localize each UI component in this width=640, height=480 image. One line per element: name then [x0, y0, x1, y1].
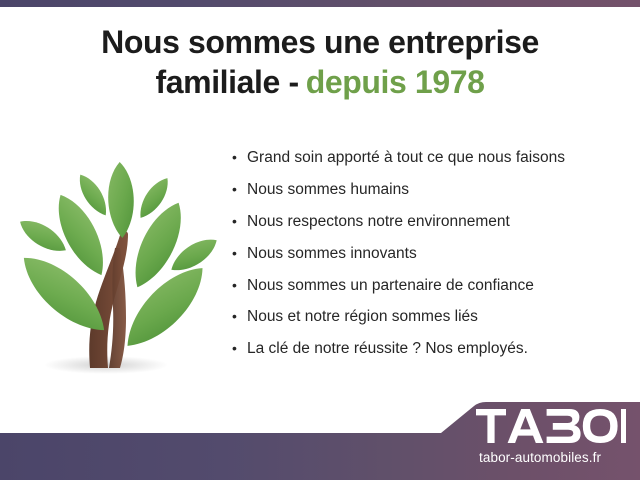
logo-wordmark — [476, 409, 626, 445]
bullet-icon: • — [232, 245, 247, 263]
list-item: • Nous sommes innovants — [232, 244, 632, 263]
list-item-label: Nous sommes humains — [247, 180, 632, 199]
bullet-icon: • — [232, 308, 247, 326]
bullet-icon: • — [232, 181, 247, 199]
bullet-icon: • — [232, 149, 247, 167]
list-item-label: La clé de notre réussite ? Nos employés. — [247, 339, 632, 358]
bullet-icon: • — [232, 340, 247, 358]
bullet-icon: • — [232, 213, 247, 231]
list-item: • Grand soin apporté à tout ce que nous … — [232, 148, 632, 167]
list-item: • La clé de notre réussite ? Nos employé… — [232, 339, 632, 358]
bullet-icon: • — [232, 277, 247, 295]
value-list: • Grand soin apporté à tout ce que nous … — [232, 148, 632, 371]
title-line-1: Nous sommes une entreprise — [0, 24, 640, 62]
list-item-label: Grand soin apporté à tout ce que nous fa… — [247, 148, 632, 167]
list-item-label: Nous respectons notre environnement — [247, 212, 632, 231]
list-item: • Nous et notre région sommes liés — [232, 307, 632, 326]
tree-illustration — [8, 152, 220, 392]
list-item-label: Nous et notre région sommes liés — [247, 307, 632, 326]
leaf — [107, 162, 135, 239]
list-item: • Nous sommes humains — [232, 180, 632, 199]
title-line-2: familiale -depuis 1978 — [0, 64, 640, 102]
list-item: • Nous sommes un partenaire de confiance — [232, 276, 632, 295]
list-item-label: Nous sommes innovants — [247, 244, 632, 263]
top-accent-bar — [0, 0, 640, 7]
logo-tagline: tabor-automobiles.fr — [479, 450, 601, 465]
slide-canvas: Nous sommes une entreprise familiale -de… — [0, 0, 640, 480]
title-line-2-plain: familiale - — [155, 64, 298, 100]
list-item-label: Nous sommes un partenaire de confiance — [247, 276, 632, 295]
leaf — [115, 256, 216, 359]
title-line-2-accent: depuis 1978 — [306, 64, 485, 100]
brand-logo[interactable]: tabor-automobiles.fr — [476, 409, 640, 475]
list-item: • Nous respectons notre environnement — [232, 212, 632, 231]
page-title: Nous sommes une entreprise familiale -de… — [0, 24, 640, 102]
